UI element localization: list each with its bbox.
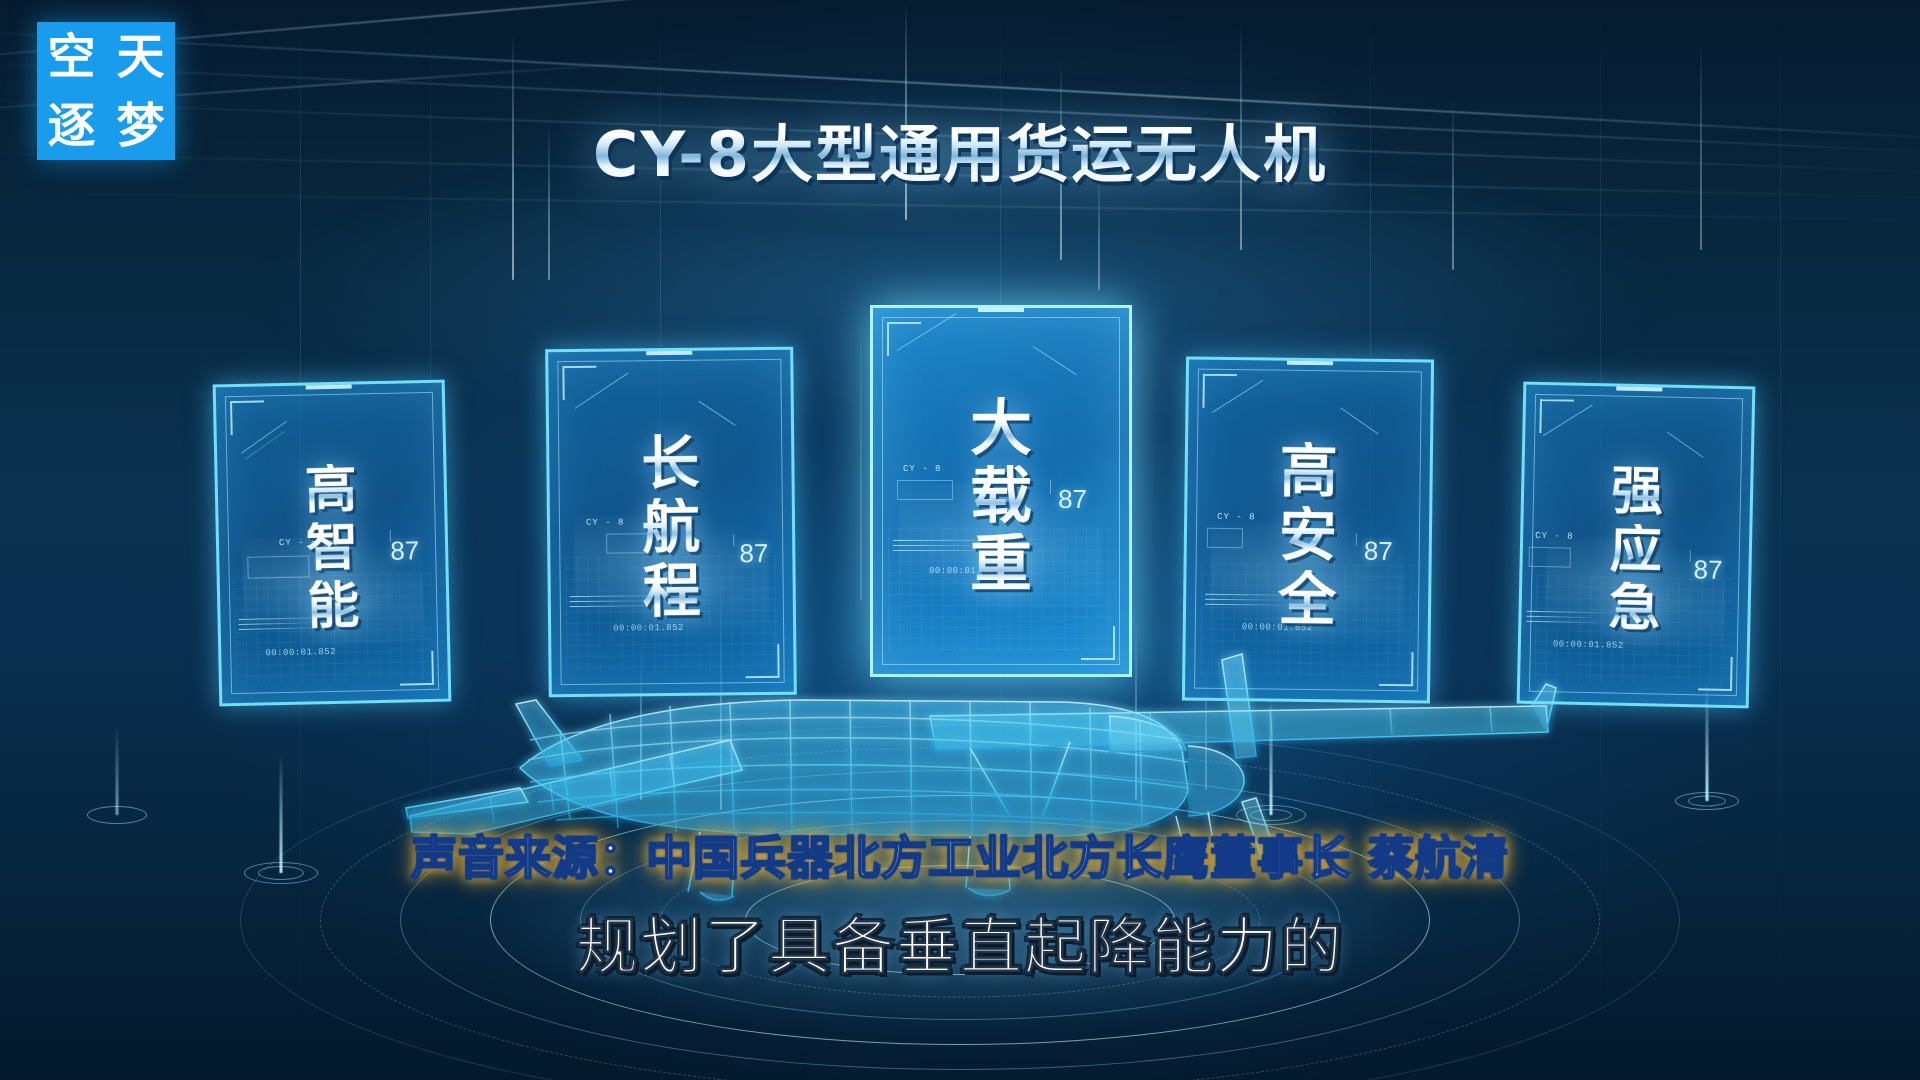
- page-title: CY-8大型通用货运无人机: [593, 104, 1327, 194]
- panel-char-3: 能: [307, 579, 360, 632]
- panel-char-1: 高: [304, 463, 357, 516]
- panel-strong-emergency[interactable]: CY - 8 87 00:00:01.852 强 应 急: [1517, 382, 1756, 709]
- panel-char-2: 应: [1609, 523, 1662, 576]
- panel-char-1: 高: [1279, 442, 1338, 501]
- broadcast-frame: 空 天 逐 梦 CY-8大型通用货运无人机 CY - 8 87: [0, 0, 1920, 1080]
- panel-char-2: 航: [642, 498, 701, 557]
- audio-source-attribution: 声音来源：中国兵器北方工业北方长鹰董事长 蔡航清: [0, 822, 1920, 888]
- panel-char-1: 长: [641, 434, 700, 493]
- subtitle-caption: 规划了具备垂直起降能力的: [0, 896, 1920, 986]
- panel-char-3: 急: [1608, 581, 1661, 634]
- panel-char-2: 载: [970, 465, 1032, 527]
- panel-char-2: 安: [1279, 506, 1338, 565]
- title-bar: CY-8大型通用货运无人机: [0, 104, 1920, 194]
- panel-char-1: 大: [970, 397, 1032, 459]
- panel-char-1: 强: [1611, 465, 1664, 518]
- panel-char-2: 智: [306, 521, 359, 574]
- panel-char-3: 重: [970, 533, 1032, 595]
- logo-char-2: 天: [116, 33, 164, 81]
- logo-char-1: 空: [47, 33, 95, 81]
- panel-char-3: 程: [642, 562, 701, 621]
